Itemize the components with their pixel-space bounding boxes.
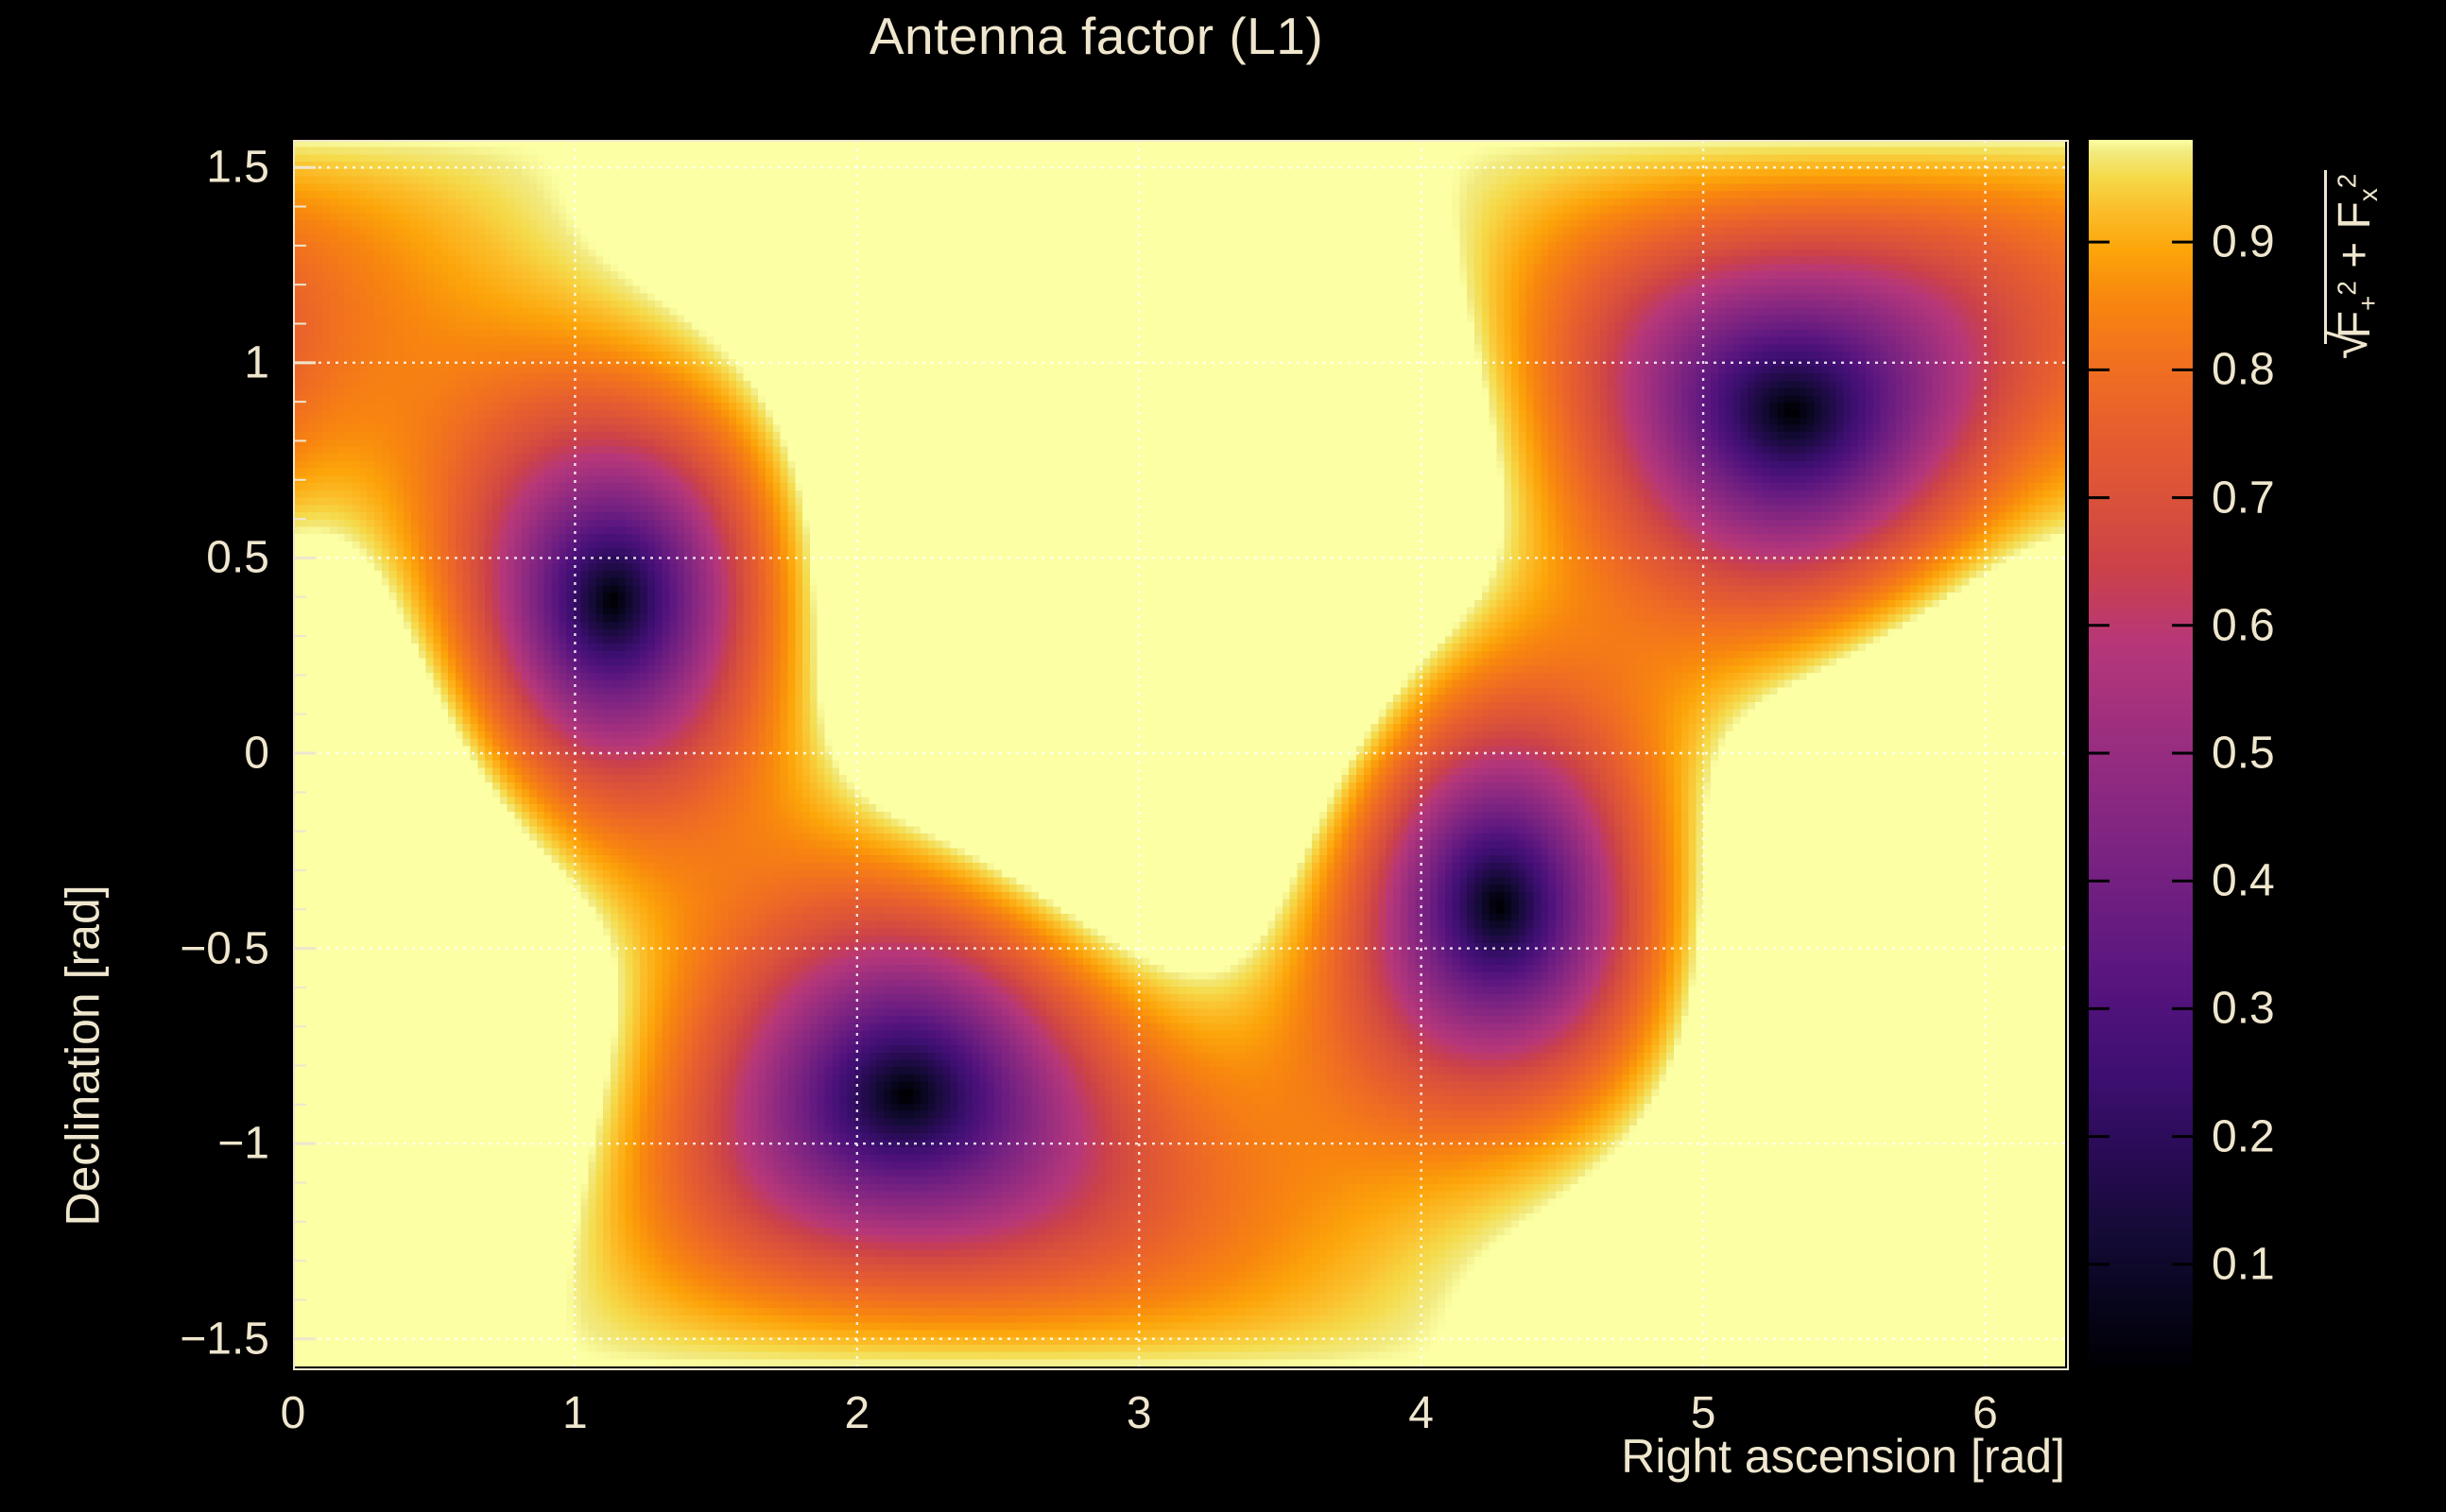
f-cross-subscript: x <box>2353 188 2383 201</box>
radicand: F+2 + Fx2 <box>2324 170 2381 345</box>
heatmap-image <box>293 140 2065 1366</box>
y-tick-label: 0.5 <box>104 532 269 584</box>
y-tick-label: −1 <box>104 1118 269 1170</box>
y-tick-label: 0 <box>104 728 269 780</box>
y-axis-title-text: Declination [rad] <box>56 885 111 1226</box>
sqrt-expression: √ F+2 + Fx2 <box>2324 170 2381 360</box>
colorbar-tick-label: 0.8 <box>2212 344 2275 396</box>
plus-operator: + <box>2330 242 2380 268</box>
z-axis-title-text: √ F+2 + Fx2 <box>2324 142 2381 387</box>
chart-canvas: Antenna factor (L1) −1.5−1−0.500.511.5 0… <box>0 0 2446 1512</box>
y-tick-label: −1.5 <box>104 1313 269 1365</box>
colorbar-tick-label: 0.5 <box>2212 728 2275 780</box>
f-cross-symbol: F <box>2330 201 2380 229</box>
colorbar-tick-label: 0.2 <box>2212 1110 2275 1162</box>
colorbar-tick-label: 0.7 <box>2212 472 2275 524</box>
page-title: Antenna factor (L1) <box>0 6 2193 66</box>
colorbar-gradient <box>2089 140 2193 1366</box>
y-tick-label: 1.5 <box>104 142 269 194</box>
f-cross-superscript: 2 <box>2333 174 2362 188</box>
z-axis-title: √ F+2 + Fx2 <box>2272 142 2395 387</box>
heatmap-plot-area <box>293 140 2065 1366</box>
x-axis-title: Right ascension [rad] <box>293 1429 2065 1484</box>
colorbar-tick-label: 0.3 <box>2212 983 2275 1035</box>
colorbar-tick-label: 0.6 <box>2212 599 2275 651</box>
colorbar-tick-label: 0.4 <box>2212 855 2275 907</box>
colorbar-tick-label: 0.9 <box>2212 216 2275 268</box>
colorbar-tick-label: 0.1 <box>2212 1238 2275 1290</box>
radical-icon: √ <box>2322 331 2375 360</box>
y-axis-title: Declination [rad] <box>55 140 112 1366</box>
colorbar <box>2089 140 2193 1366</box>
f-plus-superscript: 2 <box>2333 281 2362 295</box>
y-tick-label: −0.5 <box>104 922 269 974</box>
y-tick-label: 1 <box>104 336 269 388</box>
f-plus-subscript: + <box>2353 296 2383 311</box>
